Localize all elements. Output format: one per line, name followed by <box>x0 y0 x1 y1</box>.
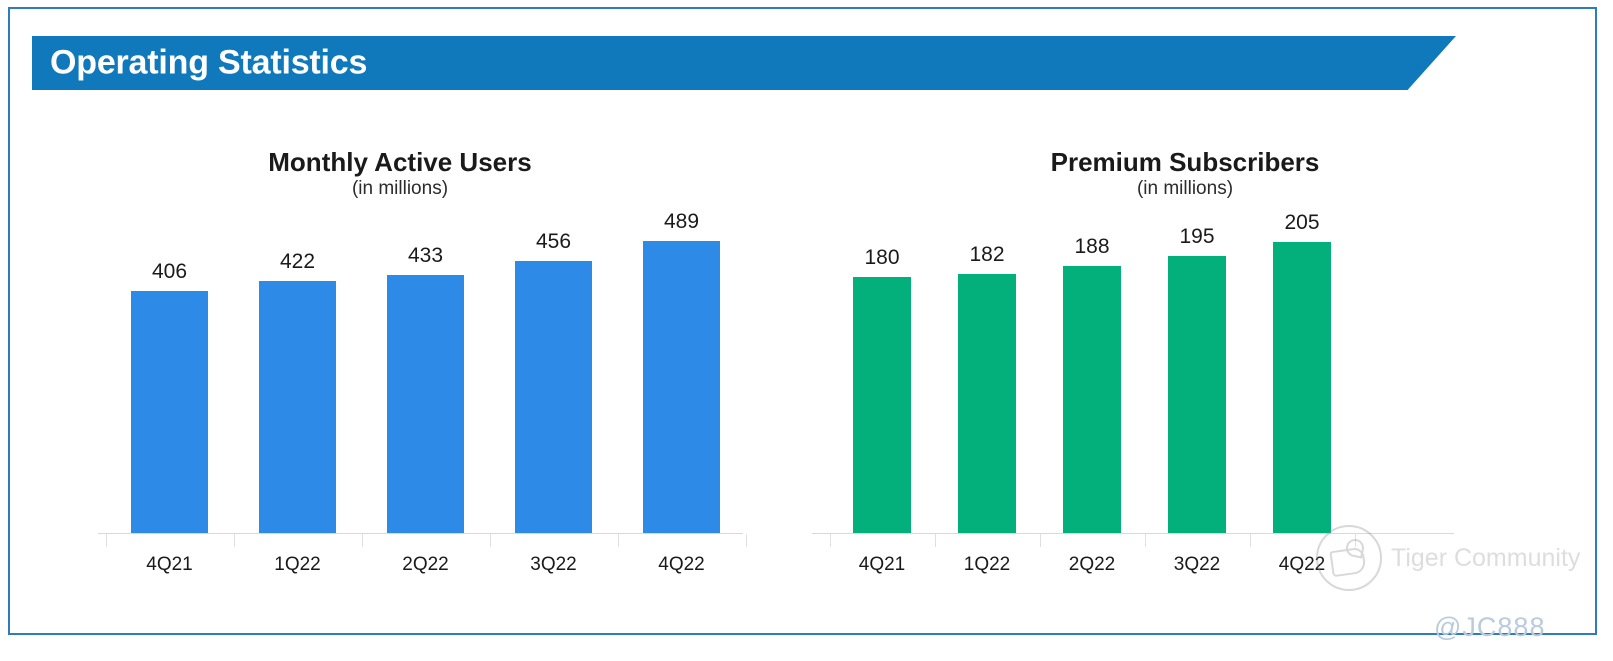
title-banner: Operating Statistics <box>32 36 1456 90</box>
chart-premium-subscribers: Premium Subscribers (in millions) 1804Q2… <box>780 129 1590 609</box>
x-axis-tick <box>1040 534 1041 547</box>
bar-4Q21[interactable] <box>853 277 911 533</box>
bar-value-label: 422 <box>234 250 361 274</box>
bar-4Q21[interactable] <box>131 291 208 533</box>
bar-3Q22[interactable] <box>1168 256 1226 533</box>
chart-monthly-active-users: Monthly Active Users (in millions) 4064Q… <box>20 129 780 609</box>
x-axis-label-1Q22: 1Q22 <box>229 554 366 576</box>
chart-subtitle-premium: (in millions) <box>780 178 1590 200</box>
x-axis-tick <box>935 534 936 547</box>
x-axis-label-4Q21: 4Q21 <box>823 554 941 576</box>
bar-2Q22[interactable] <box>387 275 464 533</box>
bar-value-label: 195 <box>1143 225 1251 249</box>
x-axis-tick <box>1145 534 1146 547</box>
bar-value-label: 205 <box>1248 211 1356 235</box>
x-axis-tick <box>746 534 747 547</box>
x-axis-label-2Q22: 2Q22 <box>1033 554 1151 576</box>
bar-value-label: 188 <box>1038 235 1146 259</box>
bar-value-label: 406 <box>106 260 233 284</box>
chart-subtitle-mau: (in millions) <box>20 178 780 200</box>
bar-1Q22[interactable] <box>958 274 1016 533</box>
x-axis-label-4Q22: 4Q22 <box>1243 554 1361 576</box>
chart-title-premium: Premium Subscribers <box>780 147 1590 178</box>
plot-area-mau: 4064Q214221Q224332Q224563Q224894Q22 <box>20 224 780 534</box>
bar-value-label: 433 <box>362 244 489 268</box>
x-axis-line <box>98 533 743 534</box>
x-axis-tick <box>830 534 831 547</box>
bar-value-label: 489 <box>618 210 745 234</box>
x-axis-tick <box>618 534 619 547</box>
bar-4Q22[interactable] <box>1273 242 1331 534</box>
x-axis-tick <box>106 534 107 547</box>
bar-1Q22[interactable] <box>259 281 336 533</box>
bar-3Q22[interactable] <box>515 261 592 533</box>
bar-4Q22[interactable] <box>643 241 720 533</box>
slide-frame: Operating Statistics Monthly Active User… <box>8 7 1597 635</box>
bar-value-label: 182 <box>933 243 1041 267</box>
x-axis-tick <box>362 534 363 547</box>
bar-value-label: 180 <box>828 246 936 270</box>
x-axis-line <box>812 533 1454 534</box>
x-axis-tick <box>234 534 235 547</box>
x-axis-label-3Q22: 3Q22 <box>485 554 622 576</box>
x-axis-label-4Q21: 4Q21 <box>101 554 238 576</box>
x-axis-label-4Q22: 4Q22 <box>613 554 750 576</box>
plot-area-premium: 1804Q211821Q221882Q221953Q222054Q22 <box>780 224 1590 534</box>
chart-title-mau: Monthly Active Users <box>20 147 780 178</box>
x-axis-label-2Q22: 2Q22 <box>357 554 494 576</box>
page-title: Operating Statistics <box>50 44 367 83</box>
x-axis-label-3Q22: 3Q22 <box>1138 554 1256 576</box>
x-axis-tick <box>1250 534 1251 547</box>
bar-2Q22[interactable] <box>1063 266 1121 533</box>
bar-value-label: 456 <box>490 230 617 254</box>
x-axis-tick <box>490 534 491 547</box>
x-axis-label-1Q22: 1Q22 <box>928 554 1046 576</box>
x-axis-tick <box>1355 534 1356 547</box>
